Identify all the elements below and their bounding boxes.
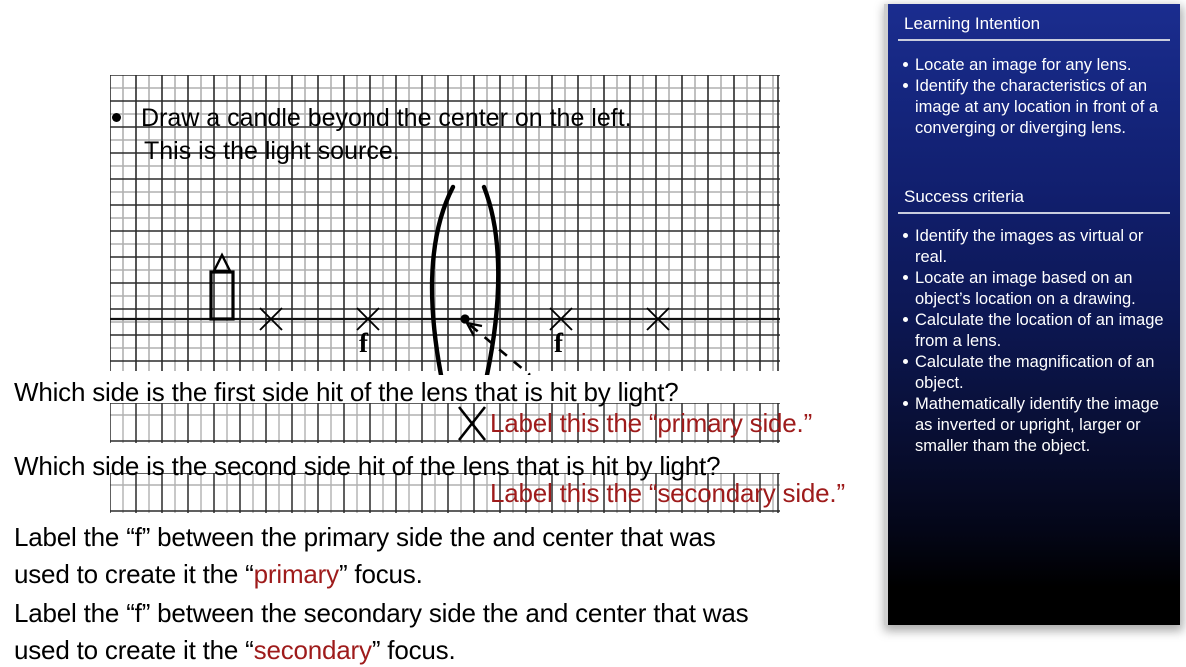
bullet-line-2: This is the light source. <box>144 134 400 169</box>
list-item: Locate an image based on an object’s loc… <box>902 268 1172 310</box>
list-item-label: Calculate the magnification of an object… <box>915 352 1172 394</box>
top-bullet-block: Draw a candle beyond the center on the l… <box>112 101 752 276</box>
list-item-label: Locate an image based on an object’s loc… <box>915 268 1172 310</box>
learning-intention-list: Locate an image for any lens. Identify t… <box>902 55 1172 139</box>
instruction-2-line-2-pre: used to create it the “ <box>14 635 254 665</box>
bullet-icon <box>903 359 908 364</box>
answer-2: Label this the “secondary side.” <box>490 478 845 508</box>
answer-1: Label this the “primary side.” <box>490 408 812 438</box>
bullet-icon <box>903 62 908 67</box>
list-item-label: Locate an image for any lens. <box>915 55 1172 76</box>
learning-intention-title: Learning Intention <box>904 14 1040 34</box>
instruction-1-line-1: Label the “f” between the primary side t… <box>14 522 716 552</box>
focus-label-right: f <box>554 330 563 357</box>
success-criteria-title: Success criteria <box>904 187 1024 207</box>
list-item: Identify the images as virtual or real. <box>902 226 1172 268</box>
bullet-icon <box>903 317 908 322</box>
bullet-dot <box>112 113 121 122</box>
instruction-2-emphasis: secondary <box>254 635 372 665</box>
list-item: Locate an image for any lens. <box>902 55 1172 76</box>
list-item-label: Identify the characteristics of an image… <box>915 76 1172 139</box>
list-item: Calculate the location of an image from … <box>902 310 1172 352</box>
objectives-panel: Learning Intention Locate an image for a… <box>888 4 1180 625</box>
success-criteria-list: Identify the images as virtual or real. … <box>902 226 1172 457</box>
bullet-icon <box>903 275 908 280</box>
instruction-2: Label the “f” between the secondary side… <box>14 595 884 667</box>
instruction-1-line-2-pre: used to create it the “ <box>14 559 254 589</box>
list-item: Mathematically identify the image as inv… <box>902 394 1172 457</box>
list-item-label: Identify the images as virtual or real. <box>915 226 1172 268</box>
dashed-ray <box>467 323 530 375</box>
list-item: Calculate the magnification of an object… <box>902 352 1172 394</box>
list-item-label: Mathematically identify the image as inv… <box>915 394 1172 457</box>
instruction-1: Label the “f” between the primary side t… <box>14 519 854 593</box>
bullet-icon <box>903 401 908 406</box>
focus-label-left: f <box>359 330 368 357</box>
bullet-icon <box>903 233 908 238</box>
instruction-2-line-1: Label the “f” between the secondary side… <box>14 598 748 628</box>
list-item-label: Calculate the location of an image from … <box>915 310 1172 352</box>
instruction-2-line-2-post: ” focus. <box>372 635 456 665</box>
list-item: Identify the characteristics of an image… <box>902 76 1172 139</box>
instruction-1-emphasis: primary <box>254 559 339 589</box>
bullet-icon <box>903 83 908 88</box>
question-1: Which side is the first side hit of the … <box>14 374 679 411</box>
bullet-line-1: Draw a candle beyond the center on the l… <box>141 101 632 136</box>
learning-intention-rule <box>898 39 1170 41</box>
slide-canvas: f f Draw a candle beyond the center on t… <box>0 0 1186 667</box>
instruction-1-line-2-post: ” focus. <box>339 559 423 589</box>
success-criteria-rule <box>898 212 1170 214</box>
